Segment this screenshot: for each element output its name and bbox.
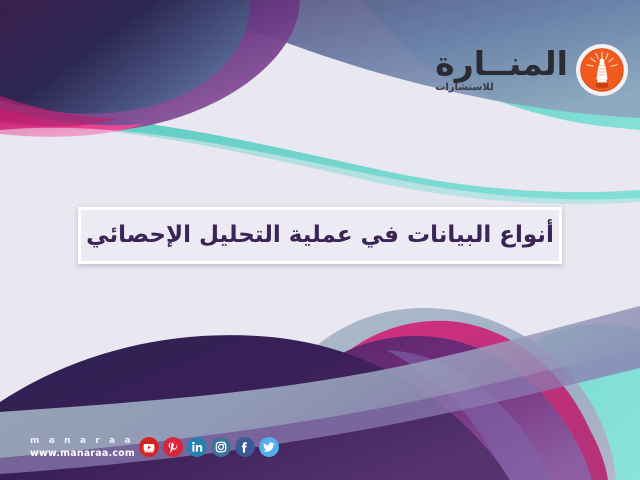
social-bar: m a n a r a a www.manaraa.com xyxy=(20,437,279,459)
title-card: أنواع البيانات في عملية التحليل الإحصائي xyxy=(78,207,562,264)
linkedin-icon[interactable] xyxy=(187,437,207,457)
footer-wordmark: m a n a r a a www.manaraa.com xyxy=(30,437,135,459)
youtube-icon[interactable] xyxy=(139,437,159,457)
pinterest-icon[interactable] xyxy=(163,437,183,457)
twitter-icon[interactable] xyxy=(259,437,279,457)
lighthouse-emblem-icon xyxy=(576,44,628,96)
brand-tagline: للاستشارات xyxy=(435,83,493,93)
facebook-icon[interactable] xyxy=(235,437,255,457)
slide-canvas: المنــارة للاستشارات أنواع البيانات في ع… xyxy=(0,0,640,480)
slide-title: أنواع البيانات في عملية التحليل الإحصائي xyxy=(86,223,554,248)
footer-brand-text: m a n a r a a xyxy=(30,437,134,446)
brand-name: المنــارة xyxy=(435,47,568,82)
footer-website-url[interactable]: www.manaraa.com xyxy=(30,449,135,459)
instagram-icon[interactable] xyxy=(211,437,231,457)
brand-logo: المنــارة للاستشارات xyxy=(435,44,628,96)
brand-wordmark: المنــارة للاستشارات xyxy=(435,47,568,93)
